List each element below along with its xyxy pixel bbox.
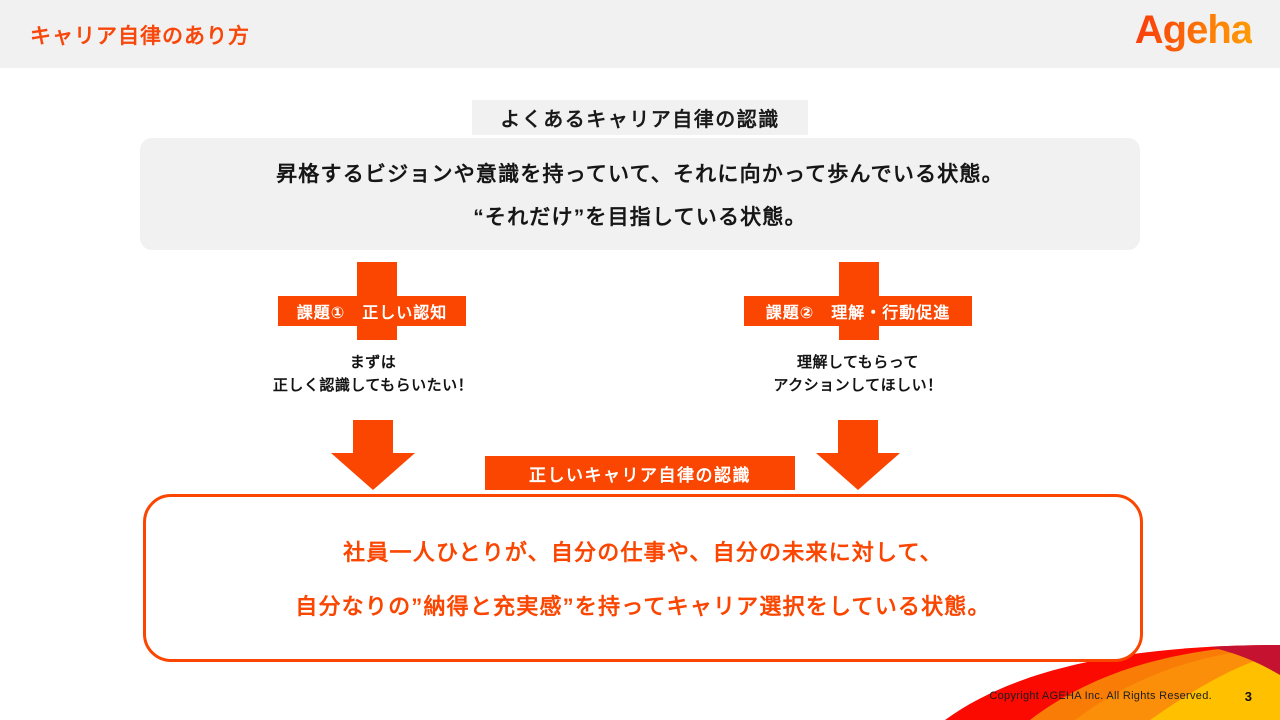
issue-subtitle-2-line-2: アクションしてほしい！: [735, 375, 981, 398]
page-number: 3: [1245, 689, 1252, 704]
arrow-down-left: [331, 420, 415, 490]
issue-bar-2: 課題② 理解・行動促進: [744, 296, 972, 326]
issue-subtitle-1-line-1: まずは: [250, 352, 496, 375]
issue-bar-1: 課題① 正しい認知: [278, 296, 466, 326]
page-header: キャリア自律のあり方 Ageha: [0, 0, 1280, 68]
ageha-logo: Ageha: [1135, 8, 1252, 53]
common-recognition-line-2: “それだけ”を目指している状態。: [473, 201, 807, 231]
issue-subtitle-1-line-2: 正しく認識してもらいたい！: [250, 375, 496, 398]
issue-subtitle-1: まずは 正しく認識してもらいたい！: [250, 352, 496, 397]
correct-recognition-chip: 正しいキャリア自律の認識: [485, 456, 795, 490]
page-title: キャリア自律のあり方: [30, 20, 250, 50]
correct-recognition-line-2: 自分なりの”納得と充実感”を持ってキャリア選択をしている状態。: [295, 589, 990, 621]
arrow-down-right: [816, 420, 900, 490]
correct-recognition-box: 社員一人ひとりが、自分の仕事や、自分の未来に対して、 自分なりの”納得と充実感”…: [143, 494, 1143, 662]
common-recognition-panel: 昇格するビジョンや意識を持っていて、それに向かって歩んでいる状態。 “それだけ”…: [140, 138, 1140, 250]
arrow-down-left-head: [331, 453, 415, 490]
correct-recognition-line-1: 社員一人ひとりが、自分の仕事や、自分の未来に対して、: [343, 535, 943, 567]
common-recognition-chip: よくあるキャリア自律の認識: [472, 100, 808, 135]
arrow-down-right-head: [816, 453, 900, 490]
issue-subtitle-2-line-1: 理解してもらって: [735, 352, 981, 375]
issue-subtitle-2: 理解してもらって アクションしてほしい！: [735, 352, 981, 397]
common-recognition-line-1: 昇格するビジョンや意識を持っていて、それに向かって歩んでいる状態。: [276, 158, 1004, 188]
copyright-text: Copyright AGEHA Inc. All Rights Reserved…: [989, 690, 1212, 702]
